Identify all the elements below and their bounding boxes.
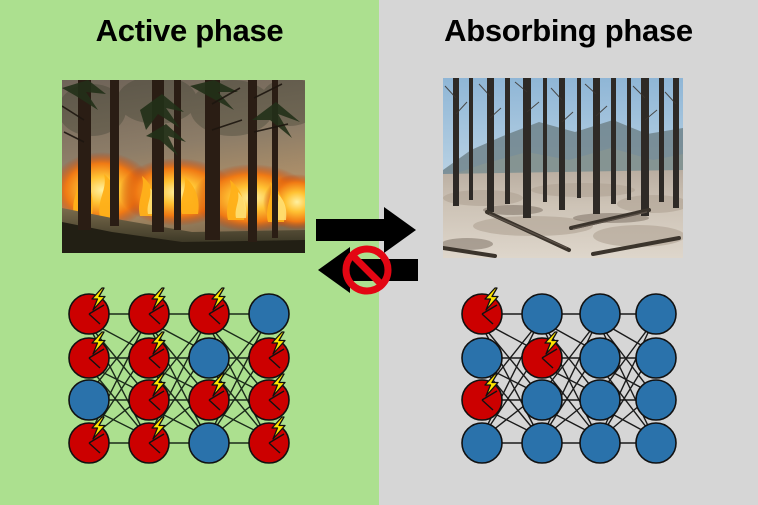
absorbing-phase-lattice: [455, 278, 705, 473]
burned-forest-photo: [443, 78, 683, 258]
figure-canvas: Active phase Absorbing phase: [0, 0, 758, 505]
transition-arrows: [312, 205, 422, 300]
active-phase-title: Active phase: [0, 13, 379, 49]
active-phase-lattice: [60, 278, 310, 473]
forest-fire-photo: [62, 80, 305, 253]
absorbing-phase-title: Absorbing phase: [379, 13, 758, 49]
